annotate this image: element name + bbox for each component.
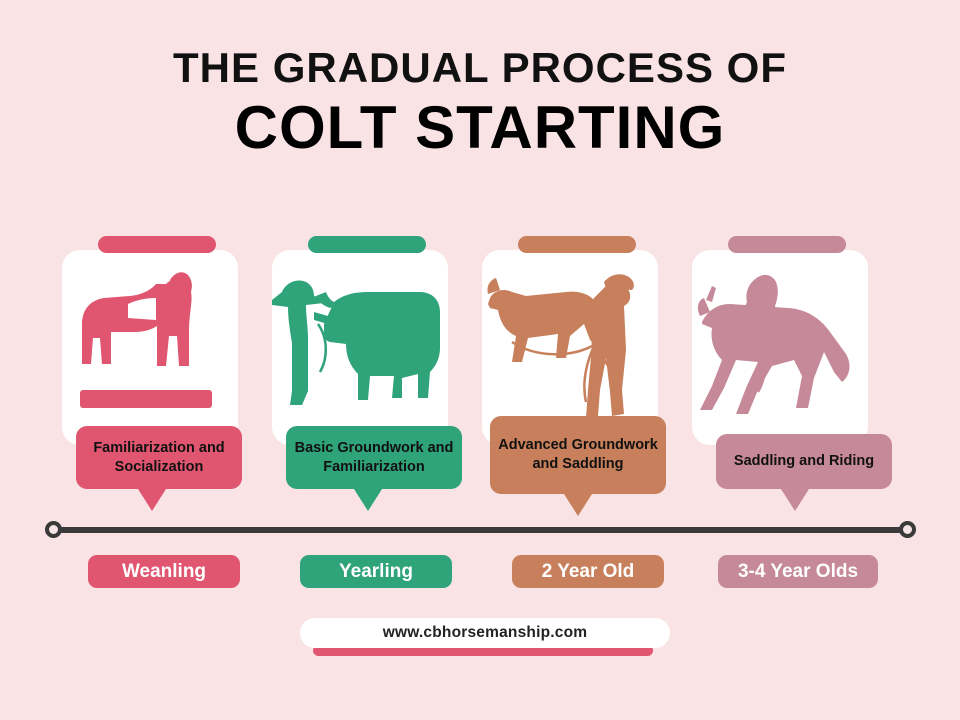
stage-label-pointer [138, 489, 166, 511]
stage-label-box: Basic Groundwork and Familiarization [286, 426, 462, 489]
stage-accent-bar [98, 236, 216, 253]
stage-label-pointer [564, 494, 592, 516]
stage-label-text: Saddling and Riding [734, 452, 874, 471]
timeline-axis [52, 527, 908, 533]
stage-accent-bar [518, 236, 636, 253]
stage-accent-bar [728, 236, 846, 253]
stage-label-pointer [781, 489, 809, 511]
stage-label-pointer [354, 489, 382, 511]
footer-url-text: www.cbhorsemanship.com [383, 624, 588, 642]
rider-on-horseback-silhouette [692, 250, 868, 445]
age-pill-two-year-old[interactable]: 2 Year Old [512, 555, 664, 588]
stage-label-box: Familiarization and Socialization [76, 426, 242, 489]
stage-card [692, 250, 868, 445]
age-pill-three-four-year-olds[interactable]: 3-4 Year Olds [718, 555, 878, 588]
handler-leading-horse-silhouette [272, 250, 448, 445]
stage-label-text: Familiarization and Socialization [84, 439, 234, 476]
process-stages: Familiarization and Socialization Basic … [0, 0, 960, 720]
stage-card [272, 250, 448, 445]
timeline-end-dot [899, 521, 916, 538]
stage-accent-bar [308, 236, 426, 253]
stage-item-yearling[interactable]: Basic Groundwork and Familiarization [272, 250, 448, 445]
age-pill-label: Yearling [339, 561, 413, 583]
age-pill-label: 3-4 Year Olds [738, 561, 858, 583]
age-pill-label: 2 Year Old [542, 561, 635, 583]
stage-label-box: Saddling and Riding [716, 434, 892, 489]
age-pill-weanling[interactable]: Weanling [88, 555, 240, 588]
footer-url-pill[interactable]: www.cbhorsemanship.com [300, 618, 670, 648]
timeline-start-dot [45, 521, 62, 538]
stage-item-two-year-old[interactable]: Advanced Groundwork and Saddling [482, 250, 658, 445]
stage-item-three-four-year-olds[interactable]: Saddling and Riding [692, 250, 868, 445]
age-pill-yearling[interactable]: Yearling [300, 555, 452, 588]
stage-card [62, 250, 238, 445]
age-pill-label: Weanling [122, 561, 206, 583]
stage-item-weanling[interactable]: Familiarization and Socialization [62, 250, 238, 445]
mare-and-foal-silhouette [62, 250, 238, 445]
stage-label-text: Basic Groundwork and Familiarization [294, 439, 454, 476]
stage-label-text: Advanced Groundwork and Saddling [498, 436, 658, 473]
stage-label-box: Advanced Groundwork and Saddling [490, 416, 666, 494]
